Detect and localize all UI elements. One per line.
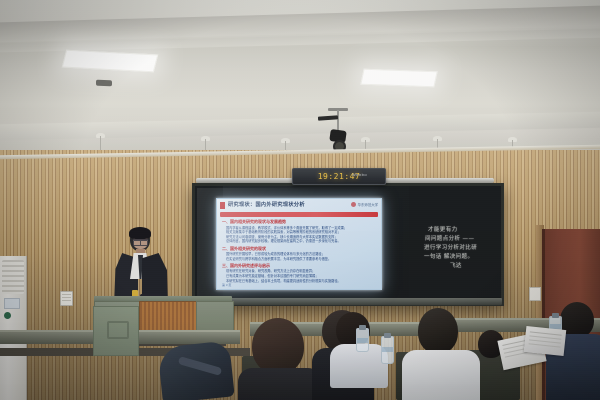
chalk-line: 一句话 解决问题。 xyxy=(424,253,502,262)
chalk-handwriting: 才能更有力 间问题点分析 —— 进行学习分析对比研 一句话 解决问题。 飞达 xyxy=(424,226,502,271)
slide-header: 研究现状：国内外研究现状分析 华东师范大学 xyxy=(220,201,378,211)
water-bottle-2[interactable] xyxy=(356,328,369,352)
timer-brand-label: Wenbo xyxy=(352,172,367,177)
projection-screen: 研究现状：国内外研究现状分析 华东师范大学 一、国内相关研究的现状与发展趋势 国… xyxy=(216,198,382,290)
slide-paragraph: 总体而言，国内研究起步较晚，理论框架尚在建构之中，仍需进一步深化与完善。 xyxy=(226,239,376,244)
slide-page-number: 第 3 页 xyxy=(222,283,231,287)
chalk-line: 间问题点分析 —— xyxy=(425,235,502,244)
chalk-line: 才能更有力 xyxy=(428,226,502,235)
green-wall-panel xyxy=(93,306,139,356)
slide-section-heading: 三、国内外研究述评与启示 xyxy=(222,263,378,269)
university-logo: 华东师范大学 xyxy=(351,202,378,207)
air-conditioner-vents xyxy=(2,260,24,294)
ceiling xyxy=(0,0,600,152)
chalk-line: 飞达 xyxy=(450,262,502,271)
audience-body xyxy=(402,350,480,400)
slide-paragraph: 本研究拟在已有基础上，结合本土情境，构建更具适用性的分析框架与实施路径。 xyxy=(226,279,376,284)
slide-section-heading: 二、国外相关研究的现状 xyxy=(222,246,378,252)
audience-head xyxy=(418,308,458,354)
slide-title: 研究现状：国内外研究现状分析 xyxy=(228,201,305,208)
audience-head xyxy=(252,318,304,374)
slide-accent-bar xyxy=(220,212,378,217)
air-conditioner-power-icon xyxy=(4,312,11,319)
panel-emblem-icon xyxy=(107,321,129,339)
water-bottle-1[interactable] xyxy=(381,336,394,364)
slide-section-heading: 一、国内相关研究的现状与发展趋势 xyxy=(222,219,378,225)
smoke-detector-icon xyxy=(96,80,112,87)
slide-body: 一、国内相关研究的现状与发展趋势 国内学者从课程建设、教学模式、评价体系等多个角… xyxy=(220,219,378,283)
digital-timer-display: 19:21:47 xyxy=(292,168,386,185)
slide-paragraph: 在实证研究与跨学科融合方面积累丰富，为本研究提供了重要参考与借鉴。 xyxy=(226,257,376,262)
wall-outlet-plate[interactable] xyxy=(529,287,541,301)
ceiling-panel-light-right xyxy=(360,69,437,87)
lecture-hall-photo: 19:21:47 Wenbo 研究现状：国内外研究现状分析 华东师范大学 一、国… xyxy=(0,0,600,400)
handout-papers-second[interactable] xyxy=(524,326,566,356)
slide-content: 研究现状：国内外研究现状分析 华东师范大学 一、国内相关研究的现状与发展趋势 国… xyxy=(220,201,378,287)
eyeglasses-icon xyxy=(133,239,148,244)
slide-bullet-marker-icon xyxy=(220,202,225,209)
chalk-tray-rail xyxy=(188,298,502,305)
ceiling-soffit xyxy=(0,112,600,141)
presenter-hair xyxy=(129,227,151,239)
audience-body xyxy=(238,368,322,400)
air-conditioner-display xyxy=(4,298,20,309)
wall-switch-plate[interactable] xyxy=(60,291,73,306)
chalk-line: 进行学习分析对比研 xyxy=(424,244,502,253)
logo-text: 华东师范大学 xyxy=(358,203,378,207)
